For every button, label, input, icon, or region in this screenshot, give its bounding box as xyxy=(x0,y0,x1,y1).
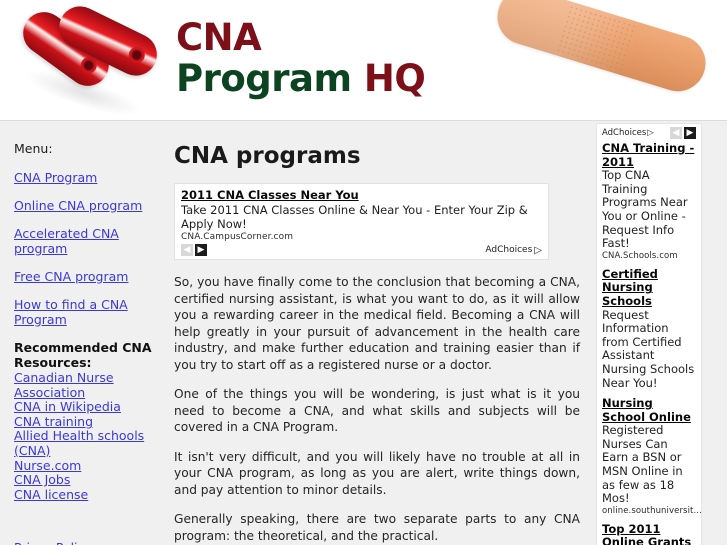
adchoices-triangle-icon: ▷ xyxy=(534,245,542,256)
ad-pagination-controls: ◀ ▶ xyxy=(670,127,696,139)
article-paragraph: So, you have finally come to the conclus… xyxy=(174,274,580,373)
inline-ad-footer: ◀ ▶ AdChoices ▷ xyxy=(181,244,542,256)
chevron-right-icon[interactable]: ▶ xyxy=(195,244,207,256)
resource-link-allied-health-schools[interactable]: Allied Health schools (CNA) xyxy=(14,429,160,458)
sidebar-ad-item[interactable]: CNA Training - 2011 Top CNA Training Pro… xyxy=(602,142,696,261)
sidebar-ad-title[interactable]: Nursing School Online xyxy=(602,397,696,424)
main-content: CNA programs 2011 CNA Classes Near You T… xyxy=(168,121,588,545)
bandage-pad xyxy=(555,4,637,73)
left-sidebar: Menu: CNA Program Online CNA program Acc… xyxy=(0,121,168,545)
logo-word-hq: HQ xyxy=(364,57,425,100)
sidebar-item-cna-program[interactable]: CNA Program xyxy=(14,170,160,185)
article-paragraph: One of the things you will be wondering,… xyxy=(174,386,580,436)
right-sidebar-ad-block: AdChoices ▷ ◀ ▶ CNA Training - 2011 Top … xyxy=(596,123,702,545)
article-paragraph: It isn't very difficult, and you will li… xyxy=(174,449,580,499)
menu-label: Menu: xyxy=(14,141,160,156)
adchoices-label: AdChoices xyxy=(602,128,646,138)
resource-link-canadian-nurse-association[interactable]: Canadian Nurse Association xyxy=(14,371,160,400)
sidebar-item-accelerated-cna-program[interactable]: Accelerated CNA program xyxy=(14,226,160,256)
privacy-policy-link[interactable]: Pricay Policy xyxy=(14,540,160,545)
site-header-banner: CNA Program HQ xyxy=(0,0,727,121)
logo-line-program-hq: Program HQ xyxy=(176,58,425,100)
sidebar-item-online-cna-program[interactable]: Online CNA program xyxy=(14,198,160,213)
right-sidebar-ad-header: AdChoices ▷ ◀ ▶ xyxy=(602,127,696,139)
logo-word-program: Program xyxy=(176,57,364,100)
capsules-graphic xyxy=(14,14,164,119)
sidebar-ad-title[interactable]: CNA Training - 2011 xyxy=(602,142,696,169)
sidebar-ad-description: Registered Nurses Can Earn a BSN or MSN … xyxy=(602,424,696,506)
sidebar-ad-description: Top CNA Training Programs Near You or On… xyxy=(602,169,696,251)
sidebar-item-how-to-find-cna-program[interactable]: How to find a CNA Program xyxy=(14,297,160,327)
inline-ad-url: CNA.CampusCorner.com xyxy=(181,232,542,243)
sidebar-ad-description: Request Information from Certified Assis… xyxy=(602,309,696,391)
site-logo: CNA Program HQ xyxy=(176,18,425,100)
sidebar-ad-title[interactable]: Certified Nursing Schools xyxy=(602,268,696,309)
inline-ad-title[interactable]: 2011 CNA Classes Near You xyxy=(181,188,542,202)
bandage-icon xyxy=(491,0,713,98)
banner-inner: CNA Program HQ xyxy=(8,6,719,114)
sidebar-ad-item[interactable]: Top 2011 Online Grants xyxy=(602,523,696,545)
page-body: Menu: CNA Program Online CNA program Acc… xyxy=(0,121,727,545)
resource-link-cna-license[interactable]: CNA license xyxy=(14,488,160,503)
chevron-right-icon[interactable]: ▶ xyxy=(684,127,696,139)
resource-link-nurse-com[interactable]: Nurse.com xyxy=(14,459,160,474)
logo-line-cna: CNA xyxy=(176,18,425,58)
ad-pagination-controls: ◀ ▶ xyxy=(181,244,207,256)
adchoices-link[interactable]: AdChoices ▷ xyxy=(602,128,654,138)
article-paragraph: Generally speaking, there are two separa… xyxy=(174,511,580,544)
adchoices-link[interactable]: AdChoices ▷ xyxy=(485,245,542,256)
resource-link-cna-training[interactable]: CNA training xyxy=(14,415,160,430)
inline-ad-description: Take 2011 CNA Classes Online & Near You … xyxy=(181,203,542,231)
sidebar-ad-url: online.southuniversit... xyxy=(602,506,696,516)
sidebar-ad-title[interactable]: Top 2011 Online Grants xyxy=(602,523,696,545)
adchoices-triangle-icon: ▷ xyxy=(647,128,654,138)
page-title: CNA programs xyxy=(174,143,580,169)
sidebar-ad-item[interactable]: Nursing School Online Registered Nurses … xyxy=(602,397,696,516)
chevron-left-icon[interactable]: ◀ xyxy=(670,127,682,139)
resource-link-cna-jobs[interactable]: CNA Jobs xyxy=(14,473,160,488)
recommended-resources-heading: Recommended CNA Resources: xyxy=(14,340,160,370)
sidebar-ad-url: CNA.Schools.com xyxy=(602,251,696,261)
sidebar-ad-item[interactable]: Certified Nursing Schools Request Inform… xyxy=(602,268,696,390)
adchoices-label: AdChoices xyxy=(485,245,532,255)
resource-link-cna-in-wikipedia[interactable]: CNA in Wikipedia xyxy=(14,400,160,415)
inline-ad-unit[interactable]: 2011 CNA Classes Near You Take 2011 CNA … xyxy=(174,183,549,260)
sidebar-item-free-cna-program[interactable]: Free CNA program xyxy=(14,269,160,284)
chevron-left-icon[interactable]: ◀ xyxy=(181,244,193,256)
